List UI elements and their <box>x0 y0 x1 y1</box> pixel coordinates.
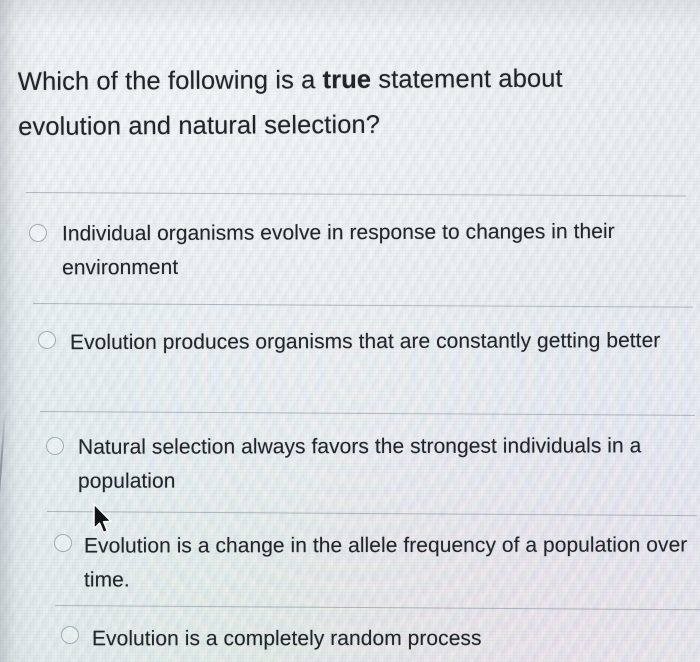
question-emphasis: true <box>322 66 371 94</box>
option-separator <box>47 511 697 516</box>
radio-unselected-icon[interactable] <box>46 437 64 455</box>
quiz-screen-photo: Which of the following is a true stateme… <box>0 0 700 662</box>
option-separator <box>55 605 700 610</box>
option-label[interactable]: Evolution produces organisms that are co… <box>70 324 700 360</box>
quiz-content: Which of the following is a true stateme… <box>0 0 700 662</box>
option-label[interactable]: Evolution is a change in the allele freq… <box>84 528 694 597</box>
option-separator <box>33 303 693 308</box>
radio-unselected-icon[interactable] <box>54 534 72 552</box>
option-label[interactable]: Individual organisms evolve in response … <box>62 215 700 286</box>
option-label[interactable]: Natural selection always favors the stro… <box>78 429 698 499</box>
option-separator <box>26 192 686 196</box>
option-label[interactable]: Evolution is a completely random process <box>92 622 692 657</box>
question-prefix: Which of the following is a <box>18 66 323 96</box>
question-prompt: Which of the following is a true stateme… <box>18 56 669 150</box>
radio-unselected-icon[interactable] <box>29 224 47 242</box>
radio-unselected-icon[interactable] <box>61 626 79 644</box>
option-separator <box>40 411 695 416</box>
radio-unselected-icon[interactable] <box>38 331 56 349</box>
